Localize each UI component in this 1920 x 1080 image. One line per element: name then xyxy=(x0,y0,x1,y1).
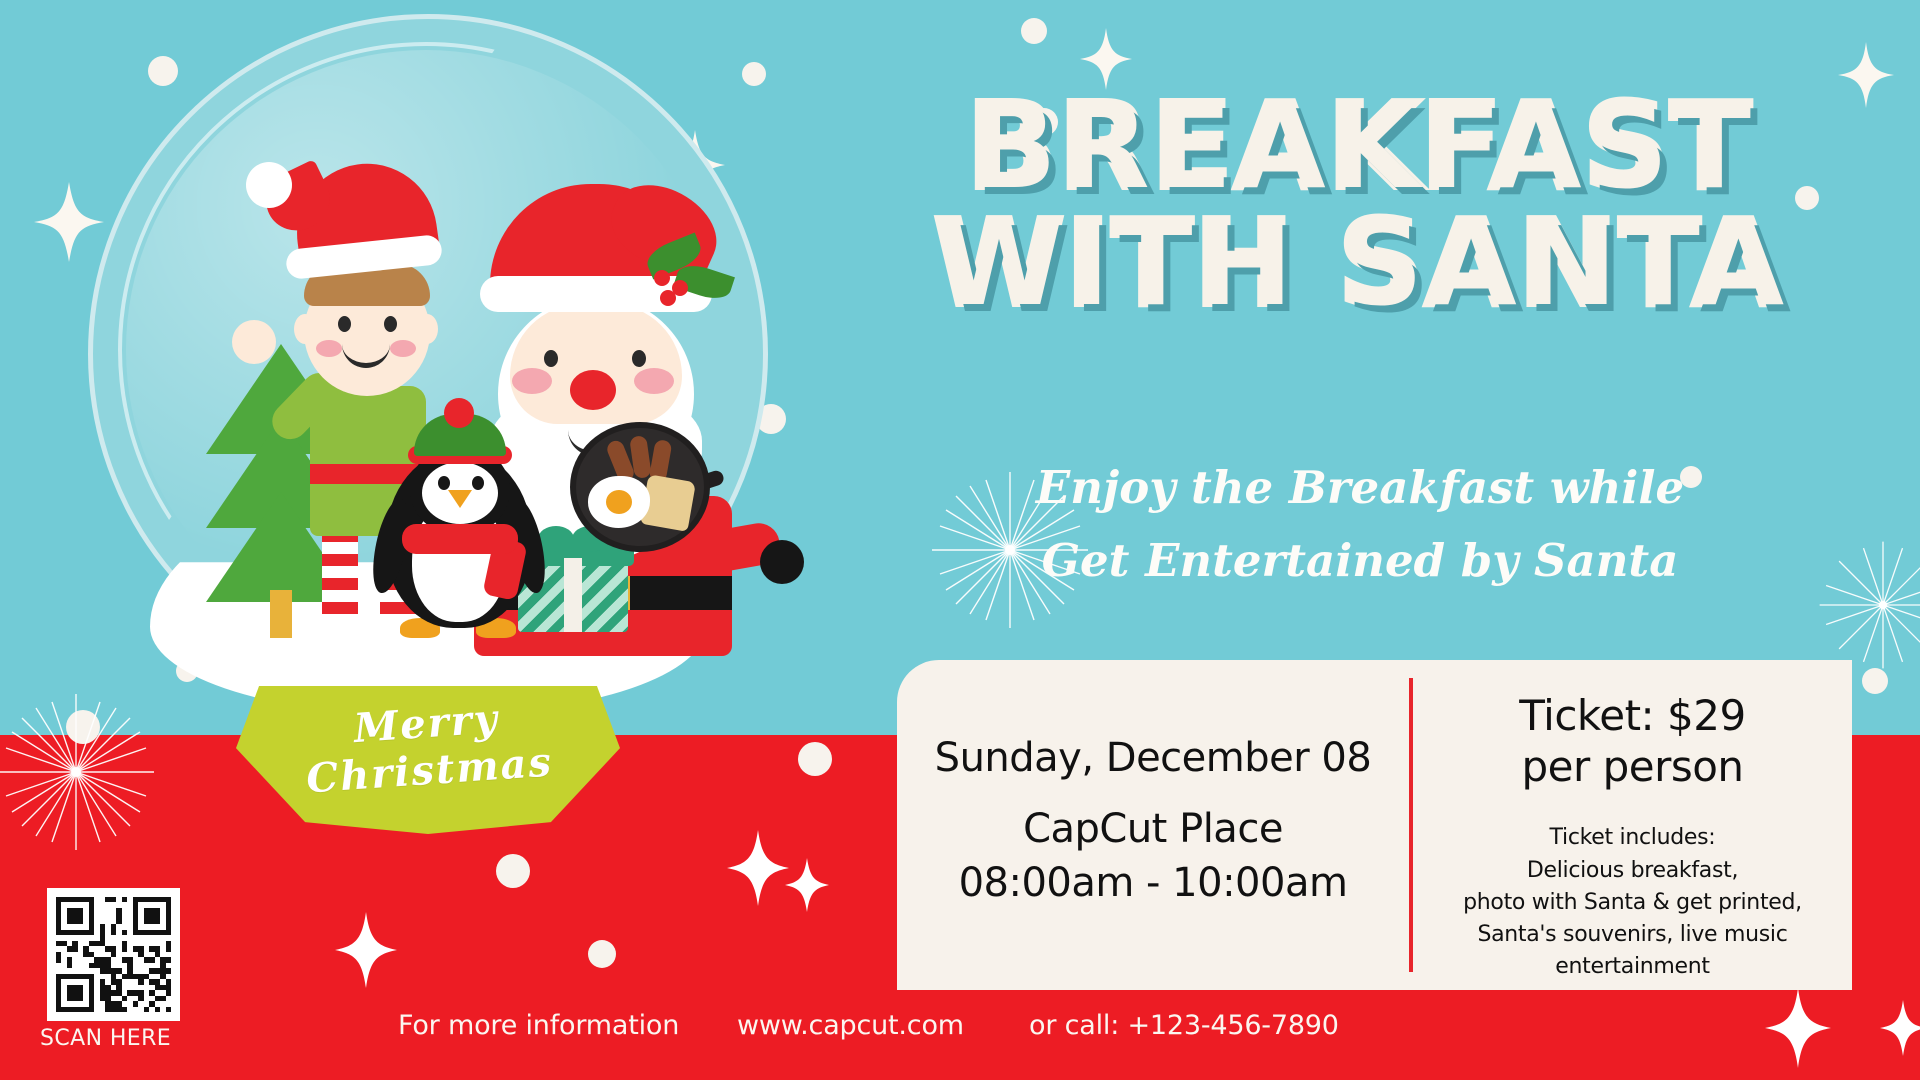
event-details-card: Sunday, December 08 CapCut Place 08:00am… xyxy=(897,660,1852,990)
four-point-sparkle-icon xyxy=(785,858,829,912)
includes-line-4: entertainment xyxy=(1463,951,1802,983)
venue-name: CapCut Place xyxy=(959,803,1348,857)
breakfast-plate-icon xyxy=(570,422,710,552)
snow-dot xyxy=(496,854,530,888)
event-venue: CapCut Place 08:00am - 10:00am xyxy=(959,803,1348,910)
ticket-includes-list: Ticket includes: Delicious breakfast, ph… xyxy=(1463,822,1802,983)
subtitle-line-1: Enjoy the Breakfast while xyxy=(840,452,1880,525)
page-title: BREAKFAST WITH SANTA xyxy=(840,88,1880,322)
snow-dot xyxy=(588,940,616,968)
includes-line-1: Delicious breakfast, xyxy=(1463,855,1802,887)
event-when-where: Sunday, December 08 CapCut Place 08:00am… xyxy=(897,660,1409,990)
holly-berry-icon xyxy=(660,290,676,306)
four-point-sparkle-icon xyxy=(1765,988,1831,1068)
includes-line-2: photo with Santa & get printed, xyxy=(1463,887,1802,919)
four-point-sparkle-icon xyxy=(1880,1000,1920,1056)
elf-waving-hand xyxy=(232,320,276,364)
snow-globe-illustration: Merry Christmas xyxy=(88,14,768,854)
website-link[interactable]: www.capcut.com xyxy=(737,1010,964,1041)
four-point-sparkle-icon xyxy=(335,912,397,988)
scan-here-label: SCAN HERE xyxy=(40,1026,200,1051)
snow-dot xyxy=(798,742,832,776)
phone-number[interactable]: or call: +123-456-7890 xyxy=(1029,1010,1339,1041)
santa-nose xyxy=(570,370,616,410)
egg-yolk xyxy=(606,490,632,514)
penguin-character xyxy=(364,414,554,654)
penguin-scarf xyxy=(402,524,518,554)
more-information-label: For more information xyxy=(398,1010,679,1041)
event-date: Sunday, December 08 xyxy=(935,735,1372,781)
qr-code-icon[interactable] xyxy=(47,888,180,1021)
holly-berry-icon xyxy=(654,270,670,286)
subtitle: Enjoy the Breakfast while Get Entertaine… xyxy=(840,452,1880,598)
ticket-info: Ticket: $29 per person Ticket includes: … xyxy=(1413,660,1852,990)
subtitle-line-2: Get Entertained by Santa xyxy=(840,525,1880,598)
includes-heading: Ticket includes: xyxy=(1463,822,1802,854)
snow-dot xyxy=(1021,18,1047,44)
venue-time: 08:00am - 10:00am xyxy=(959,857,1348,911)
ticket-price-line-1: Ticket: $29 xyxy=(1519,690,1745,741)
headline-line-2: WITH SANTA xyxy=(840,205,1880,322)
ticket-price: Ticket: $29 per person xyxy=(1519,684,1745,806)
includes-line-3: Santa's souvenirs, live music xyxy=(1463,919,1802,951)
ticket-price-line-2: per person xyxy=(1519,741,1745,792)
poster-canvas: ❄ ❄ ❄ xyxy=(0,0,1920,1080)
